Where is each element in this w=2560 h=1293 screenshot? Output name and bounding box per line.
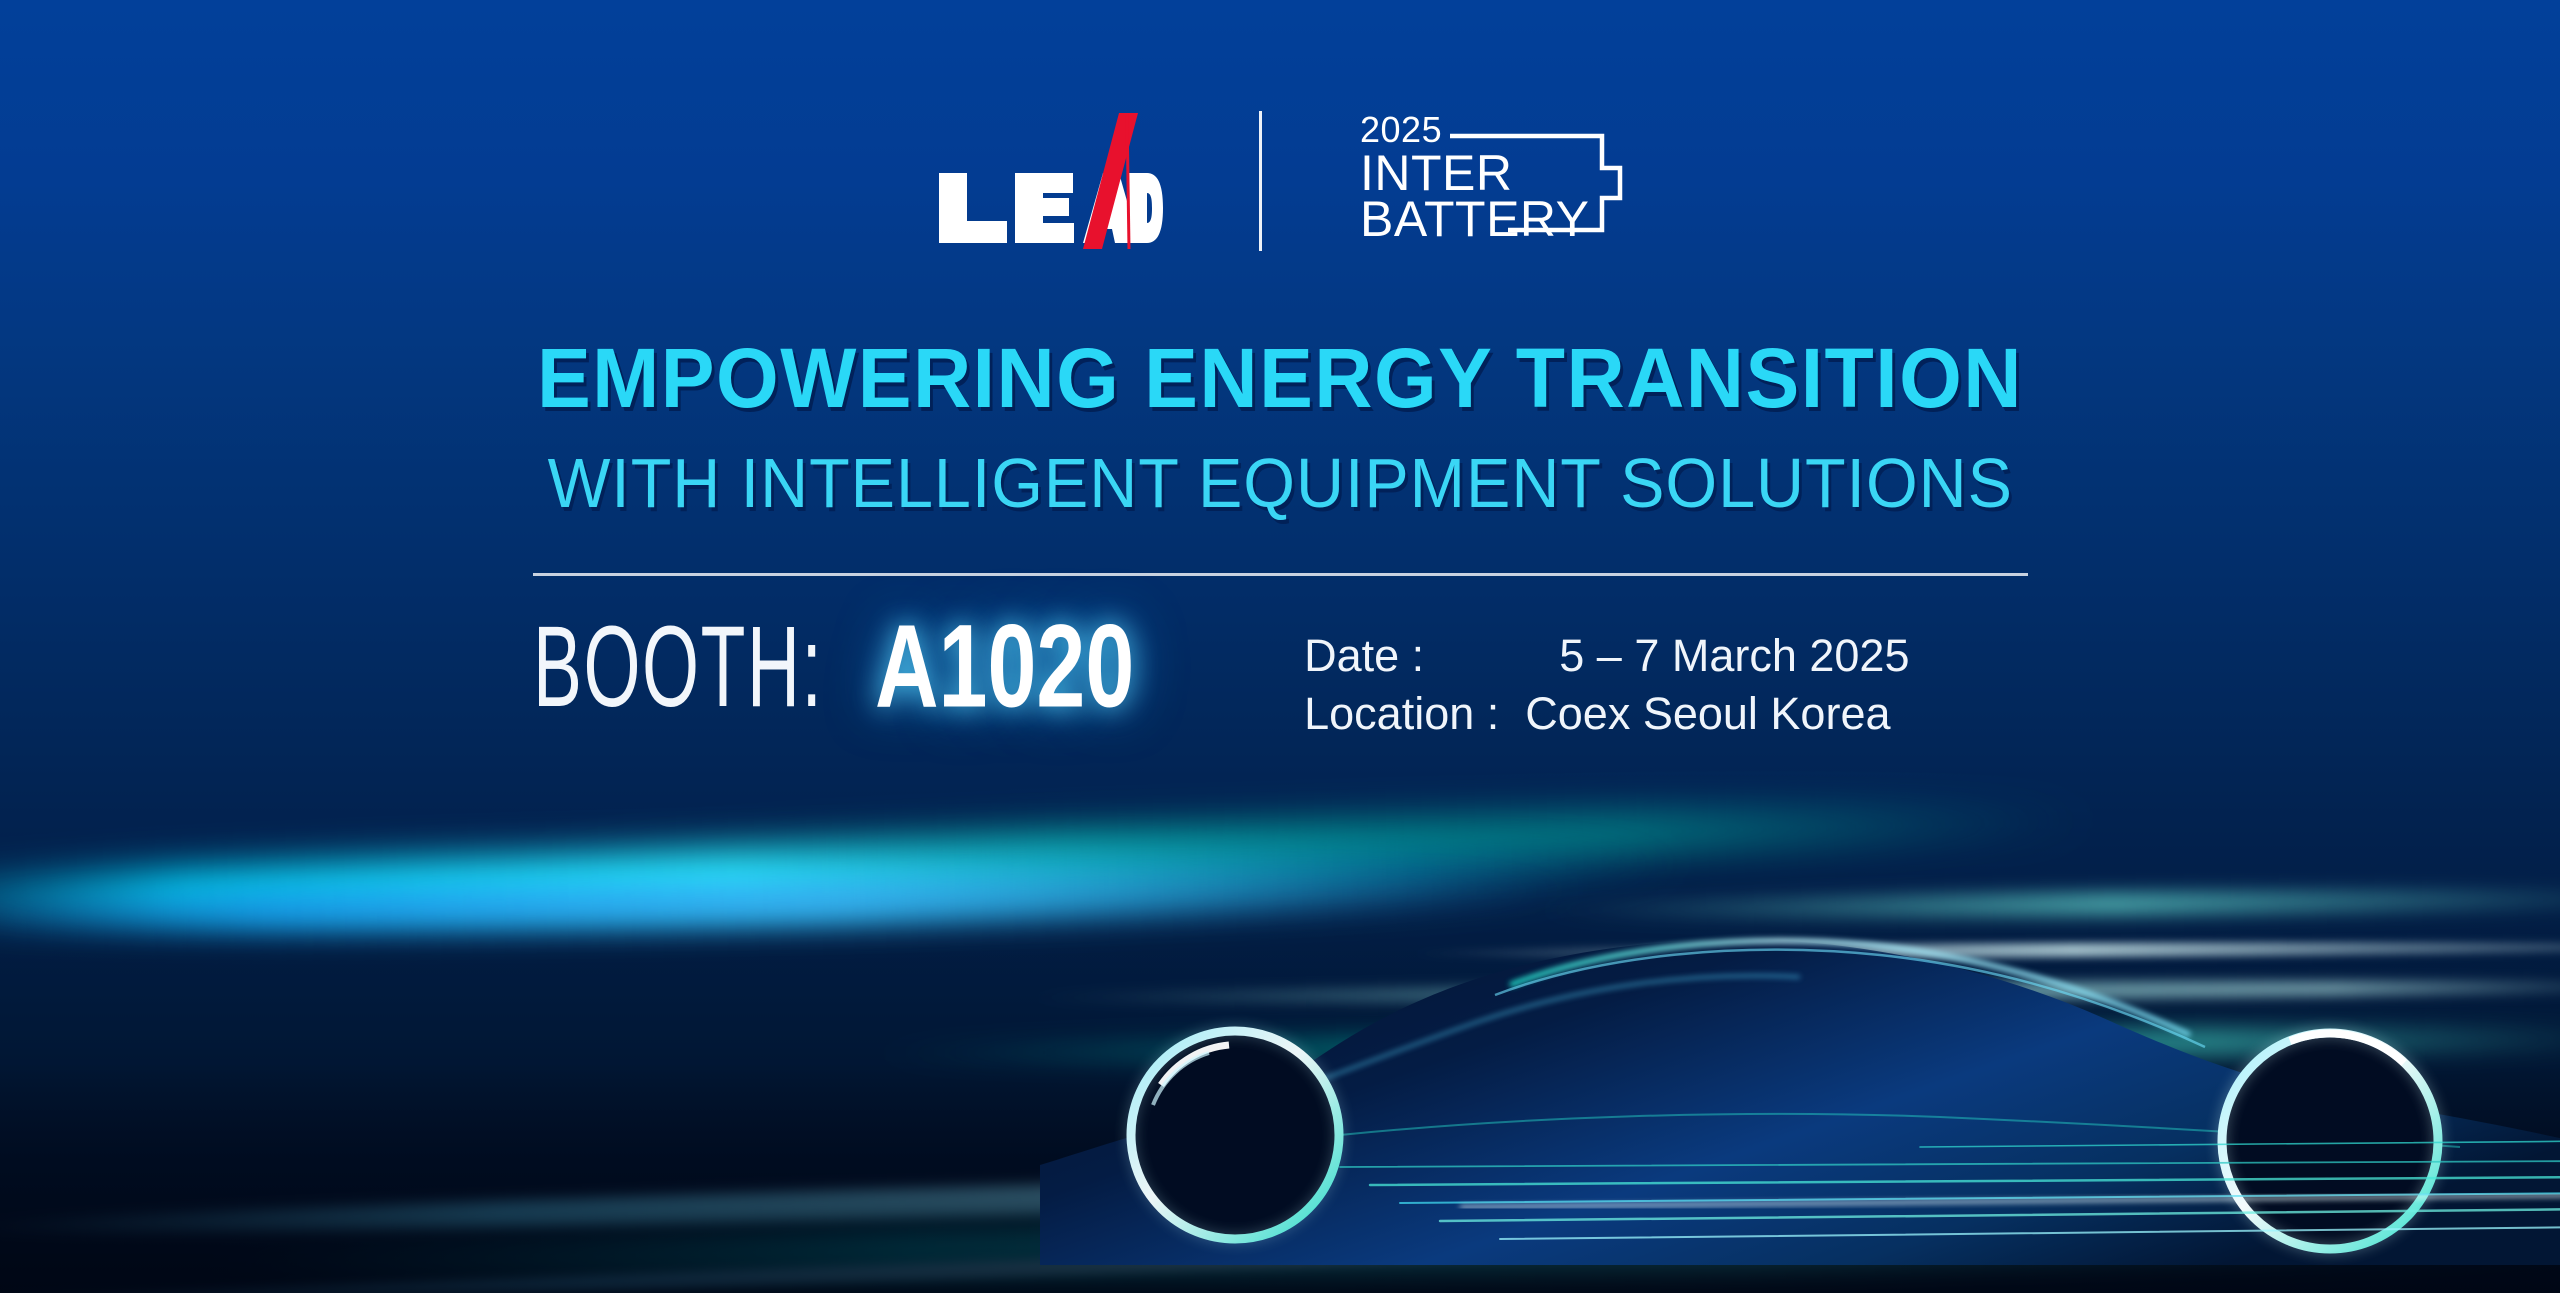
location-label: Location : (1304, 688, 1499, 740)
headline-primary: EMPOWERING ENERGY TRANSITION (537, 330, 2023, 427)
event-details: Date : 5 – 7 March 2025 Location : Coex … (1304, 630, 1909, 740)
interbattery-logo: 2025 INTER BATTERY (1358, 106, 1628, 256)
booth-label: BOOTH: (533, 601, 823, 733)
event-promo-banner: 2025 INTER BATTERY EMPOWERING ENERGY TRA… (0, 0, 2560, 1293)
content-divider (533, 573, 2028, 576)
headline-secondary: WITH INTELLIGENT EQUIPMENT SOLUTIONS (547, 443, 2012, 523)
location-value: Coex Seoul Korea (1525, 688, 1909, 740)
lead-logo (933, 111, 1163, 251)
booth-number: A1020 (875, 599, 1134, 735)
svg-text:BATTERY: BATTERY (1360, 191, 1589, 247)
sports-car-silhouette (1040, 835, 2560, 1265)
interbattery-year: 2025 (1360, 109, 1442, 150)
banner-content: EMPOWERING ENERGY TRANSITION WITH INTELL… (0, 330, 2560, 740)
logo-separator (1259, 111, 1262, 251)
booth-block: BOOTH: A1020 (533, 620, 1170, 735)
date-label: Date : (1304, 630, 1499, 682)
booth-info-row: BOOTH: A1020 Date : 5 – 7 March 2025 Loc… (533, 620, 2028, 740)
date-value: 5 – 7 March 2025 (1525, 630, 1909, 682)
logo-header: 2025 INTER BATTERY (0, 96, 2560, 266)
